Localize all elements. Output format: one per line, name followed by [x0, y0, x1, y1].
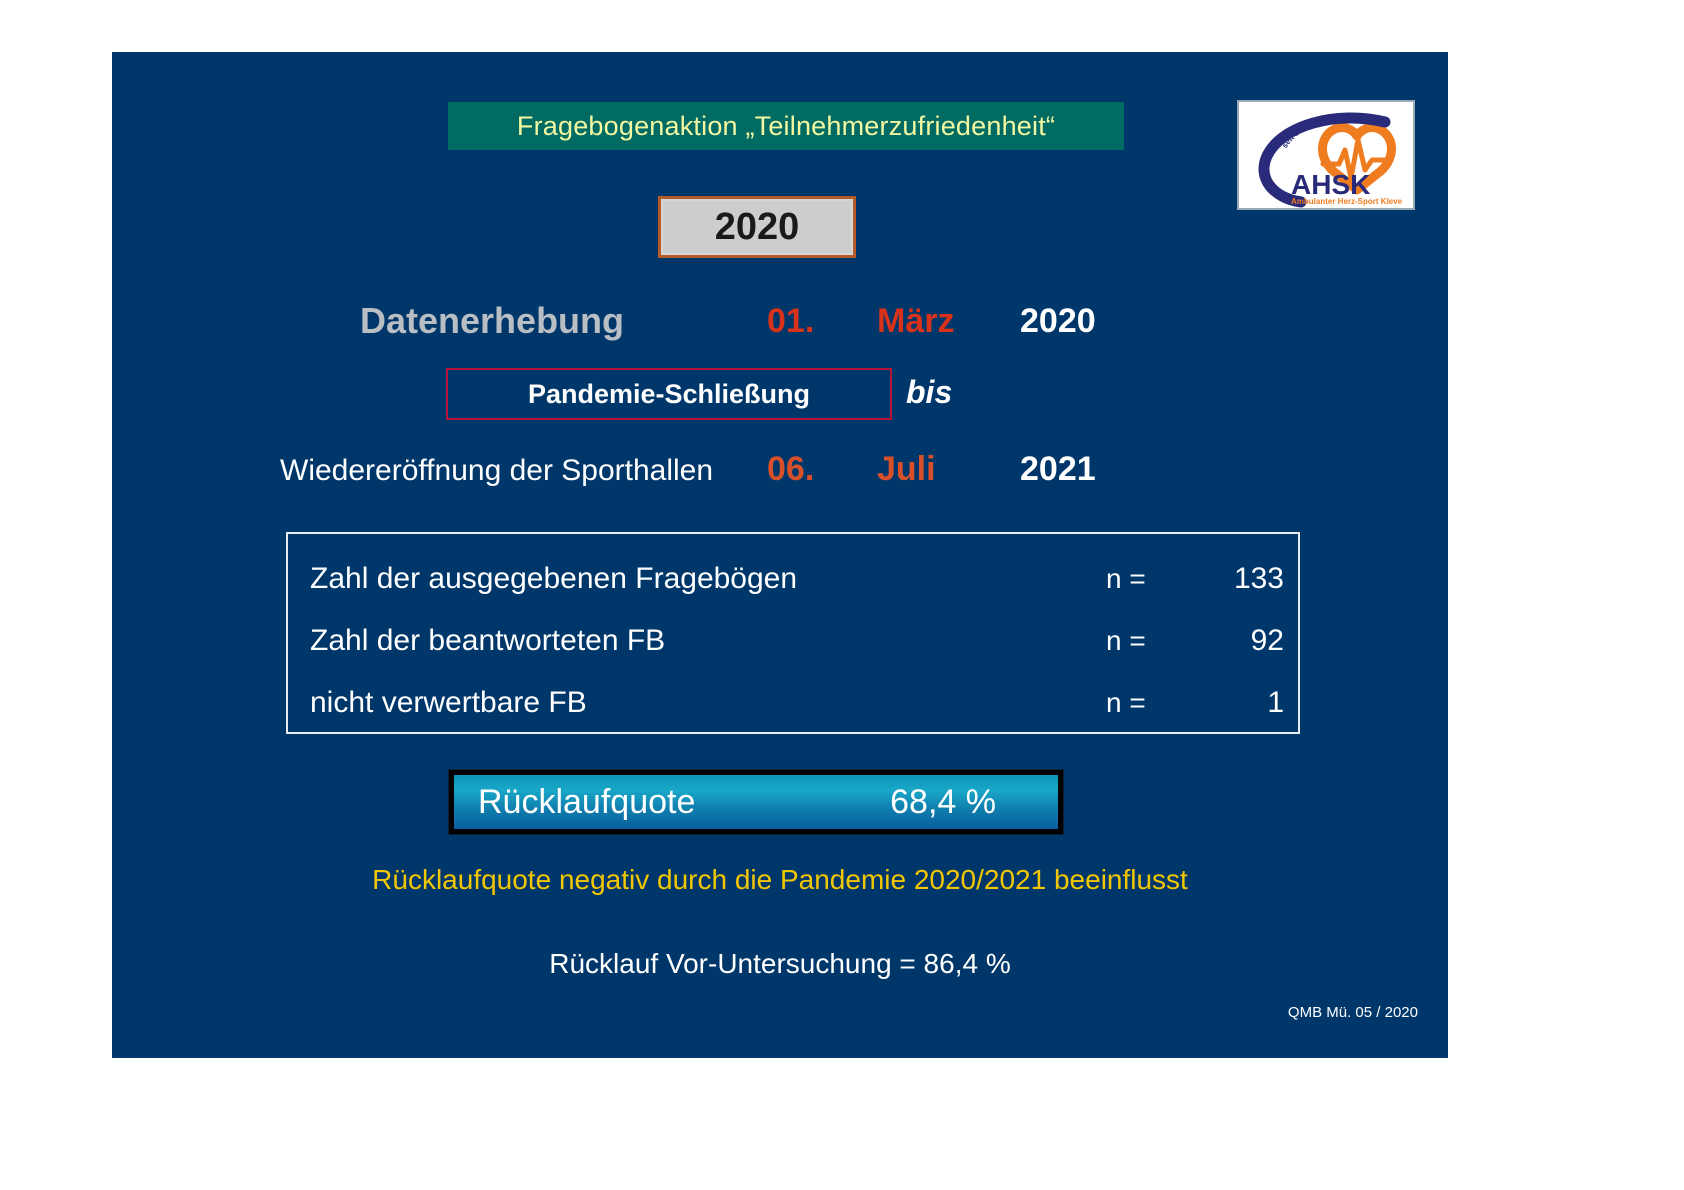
- year-badge: 2020: [658, 196, 856, 258]
- reopening-year: 2021: [1020, 450, 1096, 489]
- response-rate-inner: Rücklaufquote 68,4 %: [454, 775, 1058, 829]
- bis-connector-label: bis: [906, 374, 952, 411]
- stat-label: nicht verwertbare FB: [310, 686, 587, 720]
- stat-value: 92: [1190, 624, 1284, 658]
- reopening-month: Juli: [877, 450, 936, 489]
- table-row: nicht verwertbare FB n = 1: [310, 672, 1276, 734]
- data-collection-row: Datenerhebung 01. März 2020: [112, 300, 1448, 352]
- slide-footer: QMB Mü. 05 / 2020: [1288, 1004, 1418, 1021]
- response-rate-label: Rücklaufquote: [478, 783, 695, 822]
- reopening-label: Wiedereröffnung der Sporthallen: [280, 454, 713, 488]
- svg-text:AHSK: AHSK: [1291, 169, 1370, 200]
- data-collection-day: 01.: [767, 302, 814, 341]
- pandemic-impact-note: Rücklaufquote negativ durch die Pandemie…: [112, 864, 1448, 896]
- stat-n-symbol: n =: [1106, 625, 1146, 657]
- svg-text:Ambulanter Herz-Sport Kleve: Ambulanter Herz-Sport Kleve: [1291, 197, 1403, 206]
- ahsk-logo-icon: seit 1980 AHSK Ambulanter Herz-Sport Kle…: [1239, 102, 1413, 208]
- ahsk-logo: seit 1980 AHSK Ambulanter Herz-Sport Kle…: [1237, 100, 1415, 210]
- response-rate-value: 68,4 %: [890, 783, 996, 822]
- response-rate-highlight: Rücklaufquote 68,4 %: [449, 770, 1063, 834]
- data-collection-label: Datenerhebung: [360, 300, 624, 342]
- stat-n-symbol: n =: [1106, 563, 1146, 595]
- stat-n-symbol: n =: [1106, 687, 1146, 719]
- questionnaire-stats-table: Zahl der ausgegebenen Fragebögen n = 133…: [286, 532, 1300, 734]
- pandemic-closure-label: Pandemie-Schließung: [528, 379, 810, 410]
- data-collection-year: 2020: [1020, 302, 1096, 341]
- previous-study-note: Rücklauf Vor-Untersuchung = 86,4 %: [112, 948, 1448, 980]
- page-title: Fragebogenaktion „Teilnehmerzufriedenhei…: [517, 111, 1055, 142]
- stat-label: Zahl der ausgegebenen Fragebögen: [310, 562, 797, 596]
- reopening-row: Wiedereröffnung der Sporthallen 06. Juli…: [112, 450, 1448, 502]
- stat-value: 1: [1190, 686, 1284, 720]
- stat-value: 133: [1190, 562, 1284, 596]
- reopening-day: 06.: [767, 450, 814, 489]
- slide-canvas: Fragebogenaktion „Teilnehmerzufriedenhei…: [112, 52, 1448, 1058]
- year-badge-label: 2020: [715, 206, 800, 249]
- data-collection-month: März: [877, 302, 954, 341]
- slide-title-banner: Fragebogenaktion „Teilnehmerzufriedenhei…: [448, 102, 1124, 150]
- table-row: Zahl der ausgegebenen Fragebögen n = 133: [310, 548, 1276, 610]
- pandemic-closure-box: Pandemie-Schließung: [446, 368, 892, 420]
- table-row: Zahl der beantworteten FB n = 92: [310, 610, 1276, 672]
- stat-label: Zahl der beantworteten FB: [310, 624, 665, 658]
